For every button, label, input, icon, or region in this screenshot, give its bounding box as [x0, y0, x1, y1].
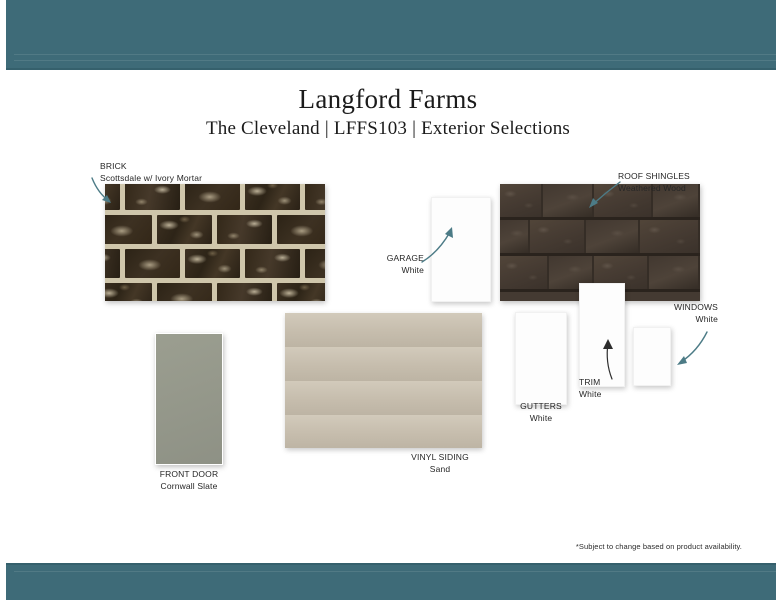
label-product: Sand — [377, 463, 503, 475]
swatch-gutters — [515, 312, 567, 405]
label-garage: GARAGE White — [336, 252, 424, 277]
label-product: White — [336, 264, 424, 276]
swatch-brick — [105, 184, 325, 301]
swatch-trim — [579, 283, 625, 387]
swatch-vinyl-siding — [285, 313, 482, 448]
community-name: Langford Farms — [0, 84, 776, 114]
label-category: FRONT DOOR — [129, 468, 249, 480]
page-title: Langford Farms The Cleveland|LFFS103|Ext… — [0, 84, 776, 142]
bottom-accent-band — [6, 563, 776, 600]
label-gutters: GUTTERS White — [491, 400, 591, 425]
title-separator: | — [407, 118, 421, 139]
label-product: White — [579, 388, 601, 400]
footnote: *Subject to change based on product avai… — [0, 542, 742, 551]
label-product: White — [600, 313, 718, 325]
label-product: Cornwall Slate — [129, 480, 249, 492]
label-vinyl-siding: VINYL SIDING Sand — [377, 451, 503, 476]
label-roof-shingles: ROOF SHINGLES Weathered Wood — [618, 170, 690, 195]
label-windows: WINDOWS White — [600, 301, 718, 326]
plan-name: The Cleveland — [206, 118, 320, 139]
label-product: White — [491, 412, 591, 424]
swatch-windows — [633, 327, 671, 386]
plan-code: LFFS103 — [334, 118, 407, 139]
label-category: ROOF SHINGLES — [618, 170, 690, 182]
arrow-windows-icon — [665, 330, 710, 375]
section-name: Exterior Selections — [421, 118, 570, 139]
top-accent-band — [6, 0, 776, 70]
label-trim: TRIM White — [579, 376, 601, 401]
label-category: TRIM — [579, 376, 601, 388]
label-brick: BRICK Scottsdale w/ Ivory Mortar — [100, 160, 202, 185]
label-product: Scottsdale w/ Ivory Mortar — [100, 172, 202, 184]
exterior-selections-sheet: Langford Farms The Cleveland|LFFS103|Ext… — [0, 0, 776, 600]
label-category: GARAGE — [336, 252, 424, 264]
label-category: GUTTERS — [491, 400, 591, 412]
swatch-front-door — [155, 333, 223, 465]
band-highlight-line — [14, 60, 776, 61]
plan-subtitle: The Cleveland|LFFS103|Exterior Selection… — [0, 116, 776, 142]
label-front-door: FRONT DOOR Cornwall Slate — [129, 468, 249, 493]
band-highlight-line — [14, 54, 776, 55]
label-product: Weathered Wood — [618, 182, 690, 194]
swatch-garage — [431, 197, 491, 302]
label-category: WINDOWS — [600, 301, 718, 313]
band-highlight-line — [14, 571, 776, 572]
label-category: BRICK — [100, 160, 202, 172]
title-separator: | — [320, 118, 334, 139]
label-category: VINYL SIDING — [377, 451, 503, 463]
